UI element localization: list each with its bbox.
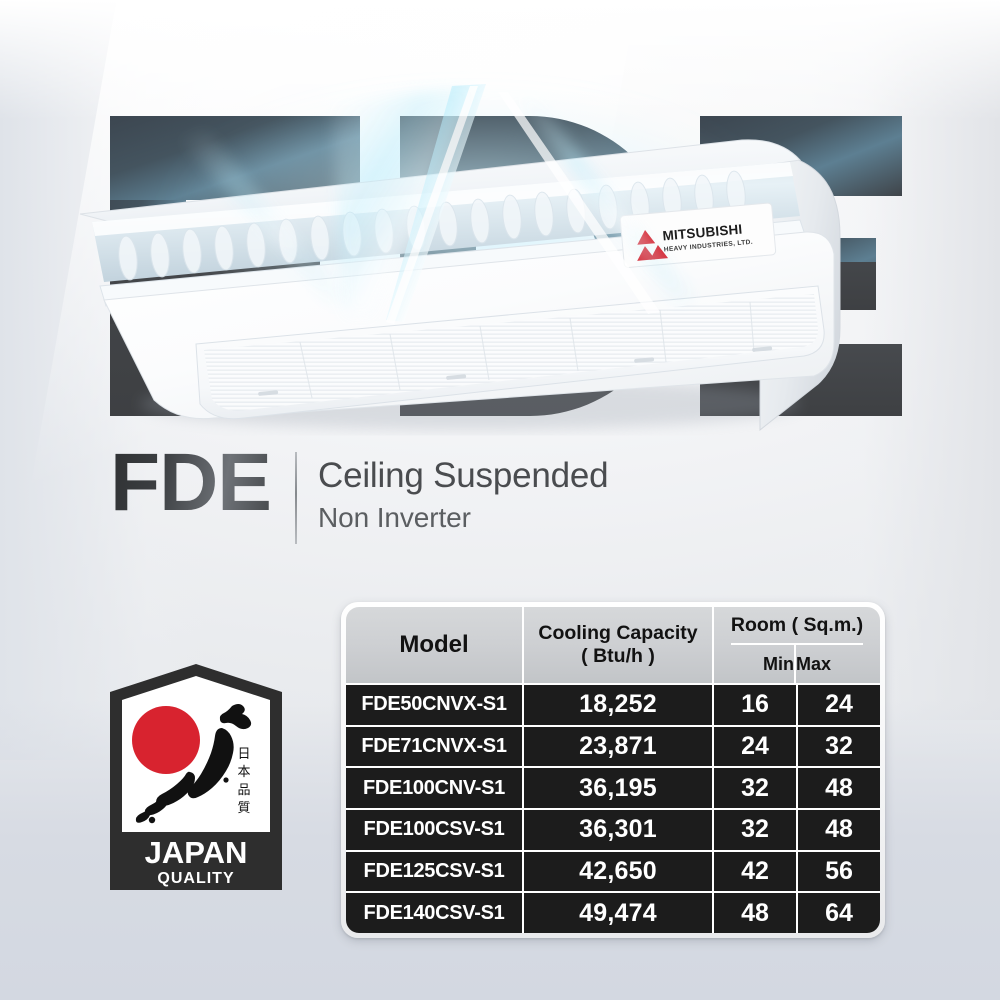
row-model: FDE71CNVX-S1 xyxy=(346,727,524,767)
table-header-row: Model Cooling Capacity ( Btu/h ) Room ( … xyxy=(346,607,880,683)
row-capacity: 18,252 xyxy=(524,685,714,725)
header-capacity-line1: Cooling Capacity xyxy=(538,622,697,644)
row-model: FDE100CNV-S1 xyxy=(346,768,524,808)
row-room-max: 32 xyxy=(798,727,880,767)
row-room-max: 56 xyxy=(798,852,880,892)
badge-caption: QUALITY xyxy=(157,870,234,887)
row-room-min: 42 xyxy=(714,852,798,892)
header-capacity-line2: ( Btu/h ) xyxy=(581,645,655,667)
table-row: FDE71CNVX-S123,8712432 xyxy=(346,725,880,767)
specification-table: Model Cooling Capacity ( Btu/h ) Room ( … xyxy=(341,602,885,938)
japan-flag-sun xyxy=(132,706,200,774)
header-room-group: Room ( Sq.m.) Min Max xyxy=(714,607,880,683)
header-room-min: Min xyxy=(763,645,796,683)
row-capacity: 36,301 xyxy=(524,810,714,850)
table-row: FDE100CNV-S136,1953248 xyxy=(346,766,880,808)
badge-country: JAPAN xyxy=(145,835,248,870)
table-body: FDE50CNVX-S118,2521624FDE71CNVX-S123,871… xyxy=(346,683,880,933)
row-model: FDE50CNVX-S1 xyxy=(346,685,524,725)
row-room-min: 16 xyxy=(714,685,798,725)
row-room-max: 48 xyxy=(798,768,880,808)
series-code: FDE xyxy=(110,442,271,524)
row-model: FDE100CSV-S1 xyxy=(346,810,524,850)
svg-text:質: 質 xyxy=(237,801,250,816)
header-model: Model xyxy=(346,607,524,683)
row-room-max: 24 xyxy=(798,685,880,725)
row-room-min: 48 xyxy=(714,893,798,933)
row-room-min: 32 xyxy=(714,810,798,850)
product-headline: Ceiling Suspended xyxy=(318,456,608,496)
header-cooling-capacity: Cooling Capacity ( Btu/h ) xyxy=(524,607,714,683)
series-title-block: FDE Ceiling Suspended Non Inverter xyxy=(110,448,730,556)
row-capacity: 49,474 xyxy=(524,893,714,933)
row-model: FDE140CSV-S1 xyxy=(346,893,524,933)
svg-text:品: 品 xyxy=(237,783,250,798)
product-subhead: Non Inverter xyxy=(318,502,471,534)
row-room-min: 24 xyxy=(714,727,798,767)
table-row: FDE140CSV-S149,4744864 xyxy=(346,891,880,933)
row-room-min: 32 xyxy=(714,768,798,808)
svg-text:日: 日 xyxy=(237,747,250,762)
row-capacity: 23,871 xyxy=(524,727,714,767)
table-row: FDE100CSV-S136,3013248 xyxy=(346,808,880,850)
header-room: Room ( Sq.m.) xyxy=(731,607,863,645)
table-row: FDE50CNVX-S118,2521624 xyxy=(346,683,880,725)
row-capacity: 42,650 xyxy=(524,852,714,892)
row-room-max: 64 xyxy=(798,893,880,933)
svg-text:本: 本 xyxy=(237,765,250,780)
row-room-max: 48 xyxy=(798,810,880,850)
title-divider xyxy=(295,452,297,544)
japan-quality-badge: 日 本 品 質 JAPAN QUALITY xyxy=(104,662,288,896)
row-capacity: 36,195 xyxy=(524,768,714,808)
row-model: FDE125CSV-S1 xyxy=(346,852,524,892)
header-room-max: Max xyxy=(796,645,831,683)
table-row: FDE125CSV-S142,6504256 xyxy=(346,850,880,892)
